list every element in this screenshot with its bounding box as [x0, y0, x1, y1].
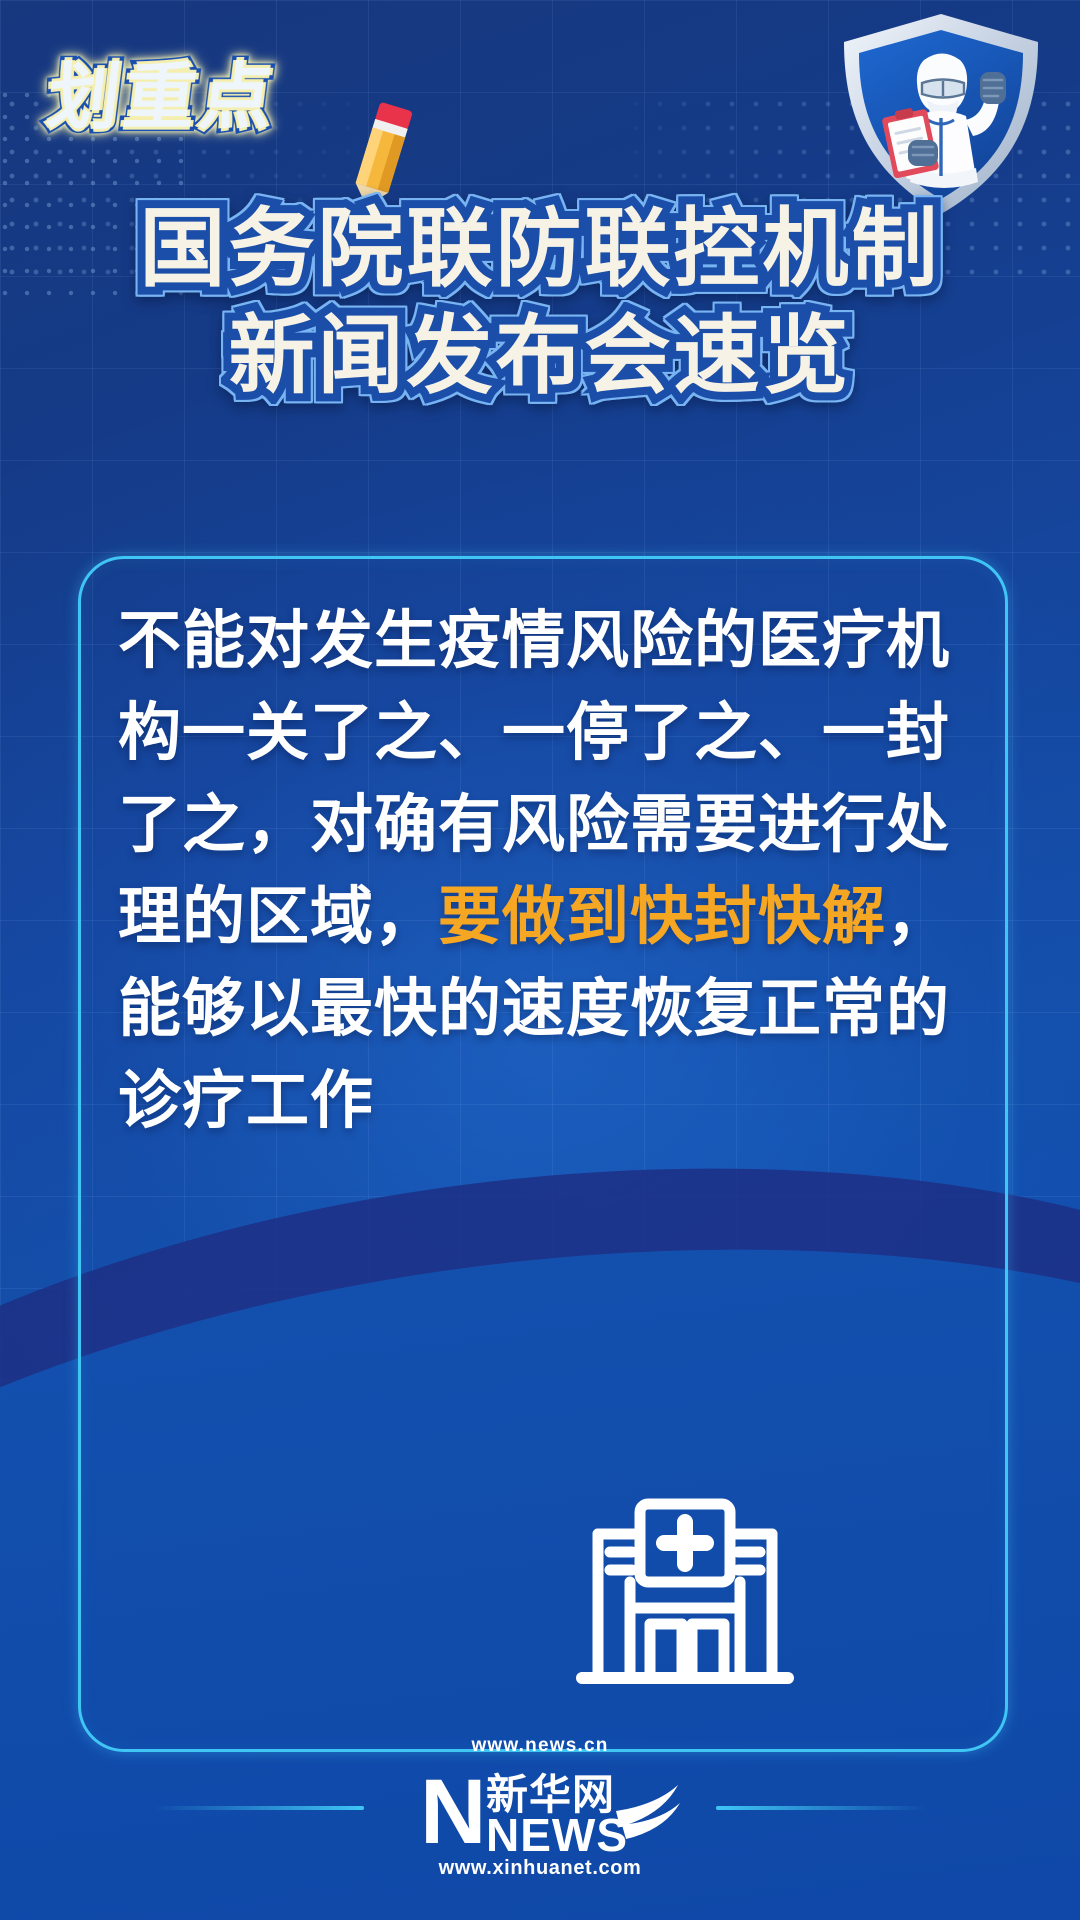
hospital-icon: [574, 1496, 796, 1686]
page-title-line-1: 国务院联防联控机制: [0, 196, 1080, 303]
quote-card-text: 不能对发生疫情风险的医疗机构一关了之、一停了之、一封了之，对确有风险需要进行处理…: [118, 596, 962, 1148]
footer-divider-left: [154, 1806, 364, 1810]
xinhua-logo-mark: N 新华网 NEWS: [390, 1759, 690, 1855]
xinhua-logo-svg: N 新华网 NEWS: [390, 1759, 690, 1855]
poster-root: 划重点: [0, 0, 1080, 1920]
shield-medical-worker-icon: [832, 8, 1050, 220]
page-title-line-2: 新闻发布会速览: [0, 303, 1080, 410]
footer-divider-right: [716, 1806, 926, 1810]
highlight-badge-label: 划重点: [44, 62, 281, 134]
highlight-badge: 划重点: [48, 62, 276, 134]
page-title: 国务院联防联控机制 新闻发布会速览: [0, 196, 1080, 409]
xinhua-logo: www.news.cn N 新华网 NEWS www.xinhuanet.com: [390, 1735, 690, 1880]
quote-segment-highlight: 要做到快封快解: [438, 882, 886, 952]
quote-paragraph: 不能对发生疫情风险的医疗机构一关了之、一停了之、一封了之，对确有风险需要进行处理…: [118, 596, 962, 1148]
logo-initial: N: [420, 1761, 486, 1855]
logo-brand-en: NEWS: [486, 1809, 628, 1855]
footer-url-bottom: www.xinhuanet.com: [390, 1857, 690, 1880]
footer: www.news.cn N 新华网 NEWS www.xinhuanet.com: [0, 1735, 1080, 1880]
footer-url-top: www.news.cn: [390, 1735, 690, 1757]
